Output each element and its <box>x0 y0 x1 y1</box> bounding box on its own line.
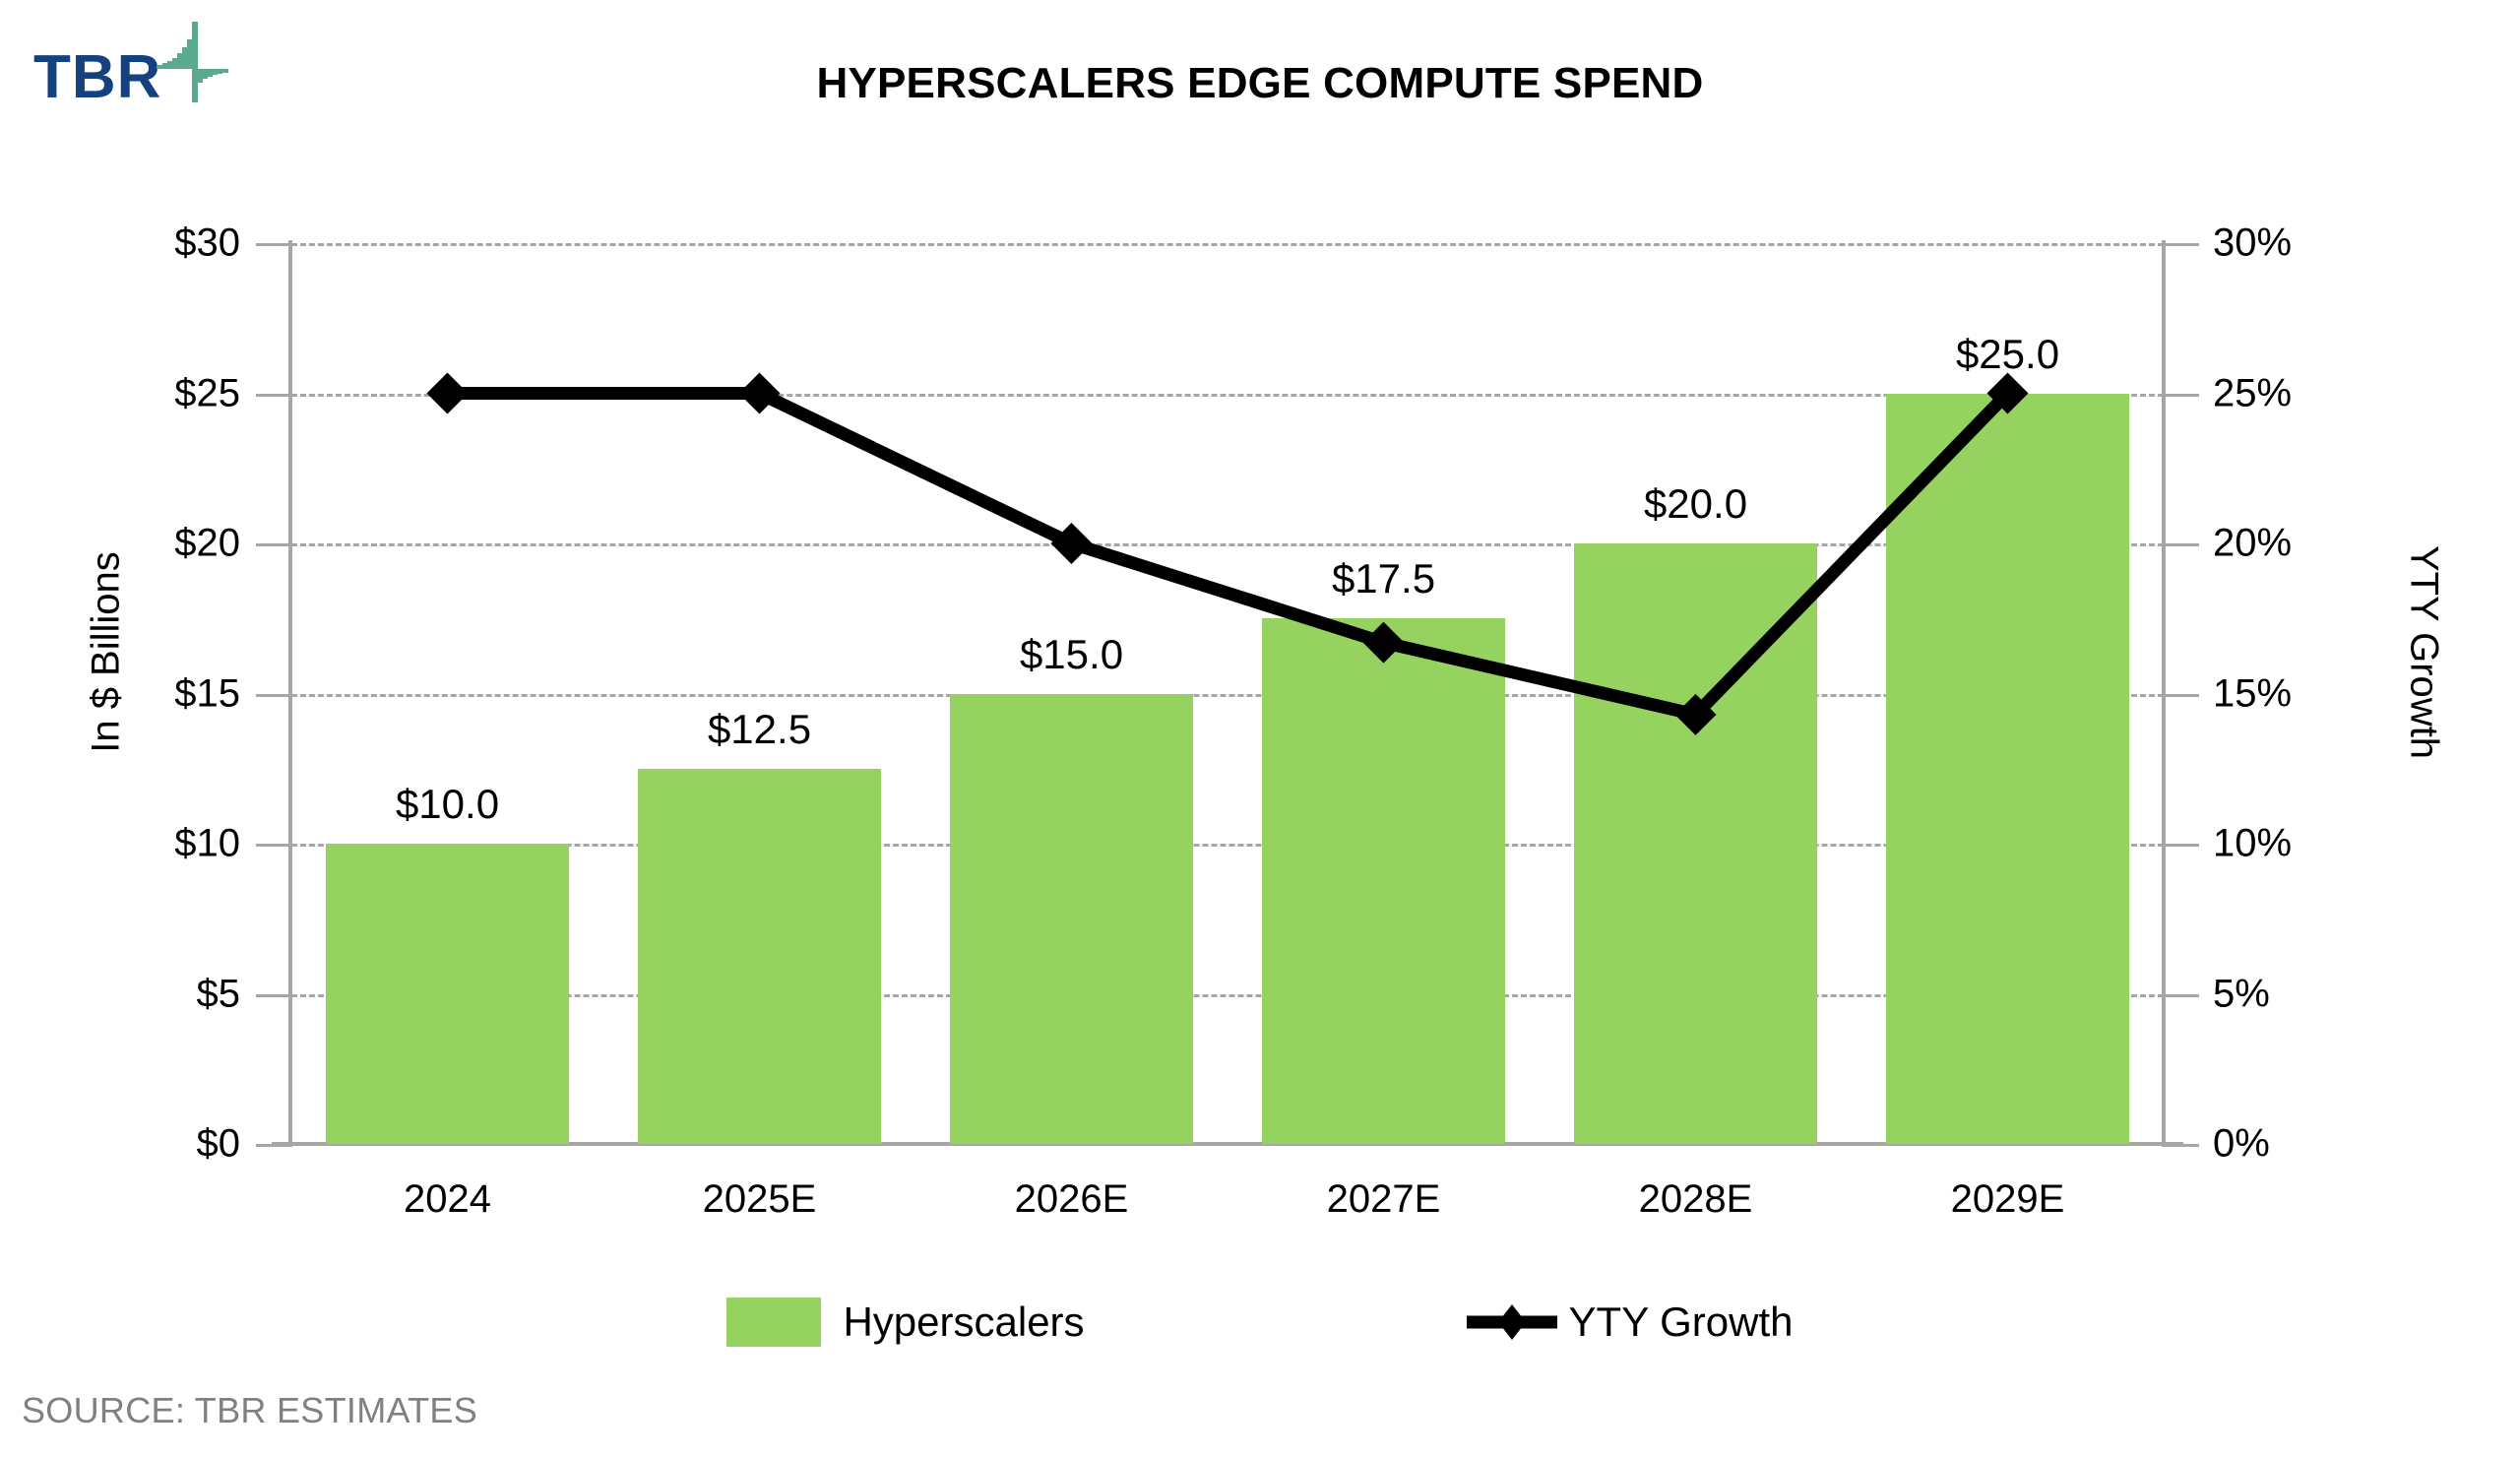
y-tick-right <box>2164 394 2199 397</box>
gridline <box>291 694 2164 697</box>
y-tick-left <box>256 1144 291 1147</box>
bar-data-label: $17.5 <box>1332 555 1435 602</box>
legend-swatch-icon <box>726 1298 821 1347</box>
y-tick-label-right: 20% <box>2213 522 2410 566</box>
y-tick-label-left: $20 <box>43 522 240 566</box>
y-tick-label-left: $25 <box>43 371 240 415</box>
x-tick-label: 2025E <box>703 1177 817 1222</box>
y-tick-left <box>256 243 291 246</box>
bar-2024[interactable] <box>326 844 569 1144</box>
y-tick-left <box>256 394 291 397</box>
bar-2027E[interactable] <box>1262 618 1505 1144</box>
bar-data-label: $10.0 <box>396 781 499 828</box>
legend-line-icon <box>1465 1298 1559 1347</box>
y-tick-label-right: 30% <box>2213 222 2410 266</box>
y-tick-right <box>2164 844 2199 847</box>
y-tick-left <box>256 844 291 847</box>
y-tick-right <box>2164 543 2199 546</box>
gridline <box>291 243 2164 246</box>
y-tick-label-left: $10 <box>43 822 240 866</box>
bar-data-label: $15.0 <box>1020 631 1123 678</box>
x-tick-label: 2027E <box>1327 1177 1441 1222</box>
bar-data-label: $12.5 <box>708 706 811 753</box>
y-tick-label-right: 10% <box>2213 822 2410 866</box>
bar-data-label: $20.0 <box>1644 480 1747 528</box>
bar-2029E[interactable] <box>1886 394 2129 1145</box>
gridline <box>291 394 2164 397</box>
chart-legend: Hyperscalers YTY Growth <box>0 1298 2520 1347</box>
y-tick-left <box>256 543 291 546</box>
legend-label-hyperscalers: Hyperscalers <box>843 1299 1084 1346</box>
y-tick-label-left: $30 <box>43 222 240 266</box>
y-tick-label-left: $0 <box>43 1122 240 1167</box>
gridline <box>291 543 2164 546</box>
y-tick-left <box>256 994 291 997</box>
bar-data-label: $25.0 <box>1956 331 2059 378</box>
chart-title: HYPERSCALERS EDGE COMPUTE SPEND <box>0 59 2520 108</box>
y-tick-label-left: $15 <box>43 671 240 716</box>
y-tick-label-right: 0% <box>2213 1122 2410 1167</box>
x-tick-label: 2028E <box>1639 1177 1753 1222</box>
legend-label-yty-growth: YTY Growth <box>1569 1299 1794 1346</box>
y-tick-label-left: $5 <box>43 972 240 1016</box>
y-tick-right <box>2164 1144 2199 1147</box>
legend-item-hyperscalers[interactable]: Hyperscalers <box>726 1298 1084 1347</box>
x-tick-label: 2026E <box>1015 1177 1129 1222</box>
plot-area <box>291 243 2164 1144</box>
bar-2026E[interactable] <box>950 694 1193 1145</box>
y-tick-right <box>2164 243 2199 246</box>
source-note: SOURCE: TBR ESTIMATES <box>22 1390 477 1431</box>
gridline <box>291 994 2164 997</box>
y-tick-label-right: 25% <box>2213 371 2410 415</box>
y-tick-right <box>2164 994 2199 997</box>
gridline <box>291 844 2164 847</box>
x-tick-label: 2024 <box>404 1177 491 1222</box>
x-tick-label: 2029E <box>1951 1177 2065 1222</box>
y-tick-label-right: 5% <box>2213 972 2410 1016</box>
bar-2025E[interactable] <box>638 769 881 1144</box>
y-tick-label-right: 15% <box>2213 671 2410 716</box>
legend-item-yty-growth[interactable]: YTY Growth <box>1465 1298 1794 1347</box>
bar-2028E[interactable] <box>1574 543 1817 1144</box>
y-tick-left <box>256 694 291 697</box>
y-tick-right <box>2164 694 2199 697</box>
